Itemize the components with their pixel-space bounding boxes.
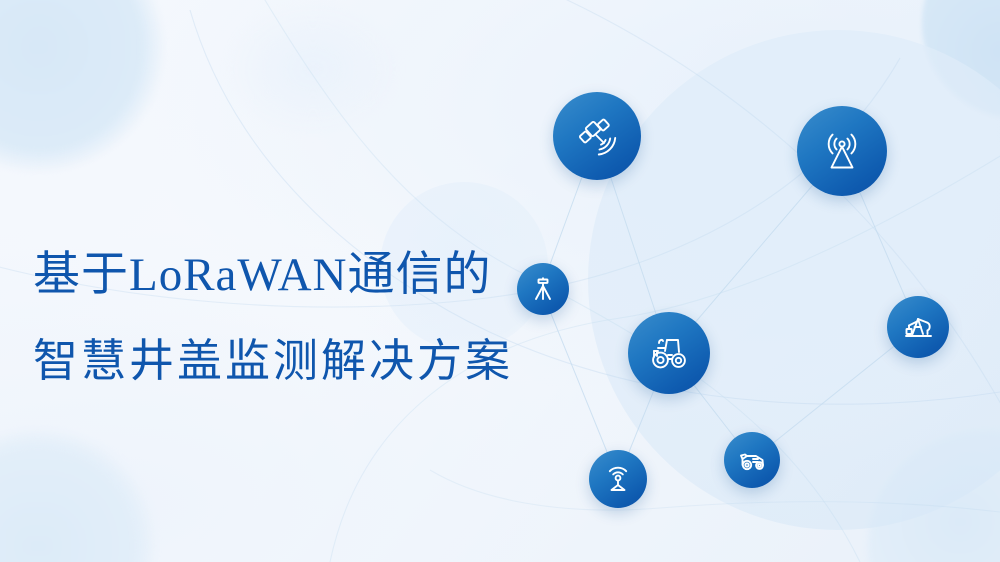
top-right-blob (922, 0, 1000, 118)
large-translucent-sphere (588, 30, 1000, 530)
node-wireless-beacon[interactable] (589, 450, 647, 508)
bottom-left-blob (0, 430, 154, 562)
node-oil-pump[interactable] (887, 296, 949, 358)
node-satellite[interactable] (553, 92, 641, 180)
satellite-signal-icon (574, 113, 620, 159)
title-line-2: 智慧井盖监测解决方案 (33, 318, 573, 404)
harvester-vehicle-icon (736, 444, 768, 476)
tractor-icon (646, 330, 692, 376)
title-line-1: 基于LoRaWAN通信的 (33, 232, 573, 318)
top-left-blob (0, 0, 164, 172)
wireless-beacon-icon (602, 463, 634, 495)
node-harvester[interactable] (724, 432, 780, 488)
node-radio-tower[interactable] (797, 106, 887, 196)
bottom-right-blob (868, 430, 1000, 562)
slide-canvas: 基于LoRaWAN通信的 智慧井盖监测解决方案 (0, 0, 1000, 562)
slide-title: 基于LoRaWAN通信的 智慧井盖监测解决方案 (33, 232, 573, 404)
oil-pumpjack-icon (901, 310, 935, 344)
node-tractor[interactable] (628, 312, 710, 394)
soft-haze-blob (228, 4, 398, 134)
radio-tower-icon (818, 127, 866, 175)
